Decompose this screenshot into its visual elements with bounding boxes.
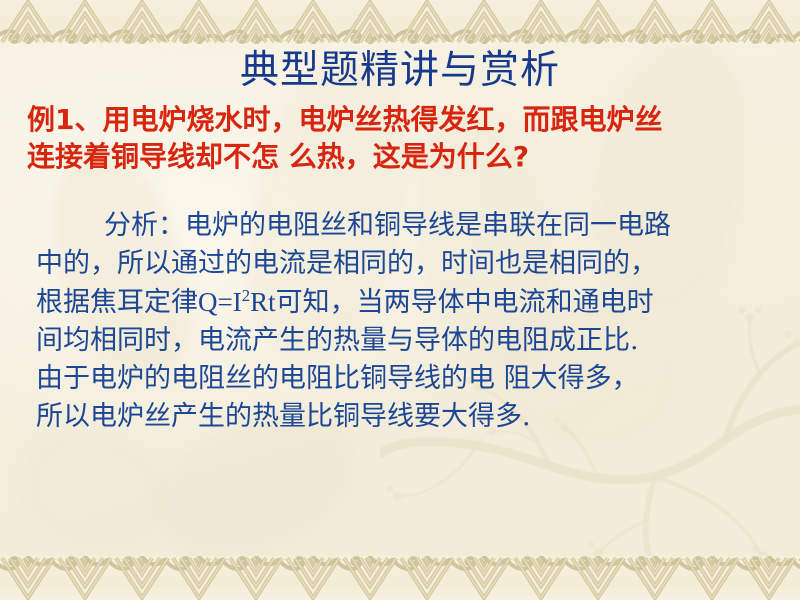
analysis-line-3-prefix: 根据焦耳定律 (36, 287, 198, 318)
analysis-line-3: 根据焦耳定律Q=I2Rt可知，当两导体中电流和通电时 (36, 283, 786, 322)
formula-base: Q=I (198, 287, 242, 317)
analysis-line-4: 间均相同时，电流产生的热量与导体的电阻成正比. (36, 322, 786, 360)
question-line-1: 例1、用电炉烧水时，电炉丝热得发红，而跟电炉丝 (27, 101, 785, 138)
question-line-2: 连接着铜导线却不怎 么热，这是为什么? (27, 138, 785, 175)
joule-law-formula: Q=I2Rt (198, 287, 276, 317)
analysis-line-5: 由于电炉的电阻丝的电阻比铜导线的电 阻大得多， (36, 360, 786, 398)
analysis-line-1: 分析：电炉的电阻丝和铜导线是串联在同一电路 (36, 207, 786, 245)
formula-exponent: 2 (242, 286, 250, 305)
slide-content: 典型题精讲与赏析 例1、用电炉烧水时，电炉丝热得发红，而跟电炉丝 连接着铜导线却… (0, 0, 800, 600)
analysis-text-block: 分析：电炉的电阻丝和铜导线是串联在同一电路 中的，所以通过的电流是相同的，时间也… (36, 207, 786, 436)
slide-canvas: 典型题精讲与赏析 例1、用电炉烧水时，电炉丝热得发红，而跟电炉丝 连接着铜导线却… (0, 0, 800, 600)
analysis-line-3-suffix: 可知，当两导体中电流和通电时 (276, 287, 654, 318)
page-title: 典型题精讲与赏析 (0, 48, 800, 94)
formula-tail: Rt (250, 287, 276, 317)
question-text-block: 例1、用电炉烧水时，电炉丝热得发红，而跟电炉丝 连接着铜导线却不怎 么热，这是为… (27, 101, 785, 175)
analysis-line-2: 中的，所以通过的电流是相同的，时间也是相同的， (36, 245, 786, 283)
analysis-line-6: 所以电炉丝产生的热量比铜导线要大得多. (36, 398, 786, 436)
